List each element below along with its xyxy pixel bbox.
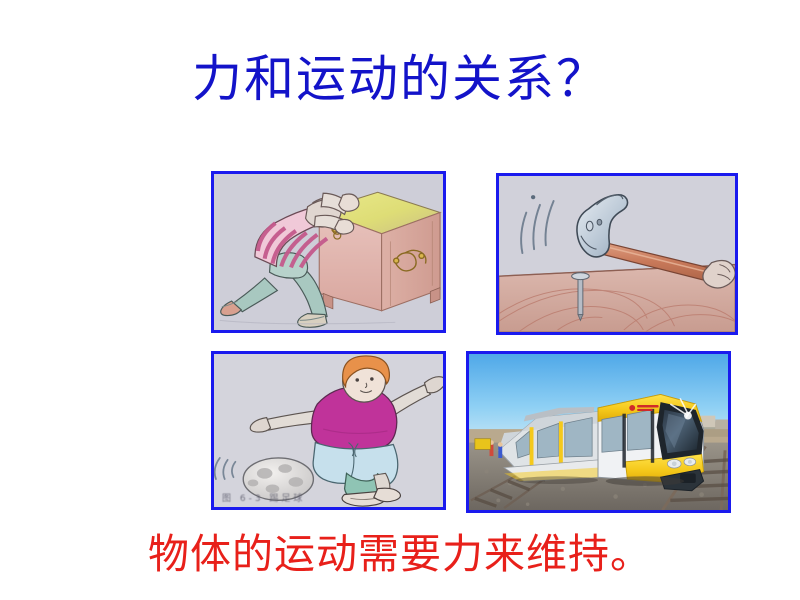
push-chest-illustration (214, 174, 443, 330)
light-rail-train-photo (469, 354, 728, 510)
picture-kick-ball[interactable]: 图 6-3 踢足球 (211, 351, 446, 510)
slide-canvas: 力和运动的关系？ (0, 0, 800, 600)
picture-light-rail-train[interactable] (466, 351, 731, 513)
slide-conclusion-text: 物体的运动需要力来维持。 (0, 528, 800, 580)
picture-push-chest[interactable] (211, 171, 446, 333)
hammer-nail-illustration (499, 176, 735, 332)
picture-hammer-nail[interactable] (496, 173, 738, 335)
kick-ball-illustration (214, 354, 443, 507)
slide-title: 力和运动的关系？ (0, 48, 800, 110)
picture-caption: 图 6-3 踢足球 (222, 491, 305, 504)
